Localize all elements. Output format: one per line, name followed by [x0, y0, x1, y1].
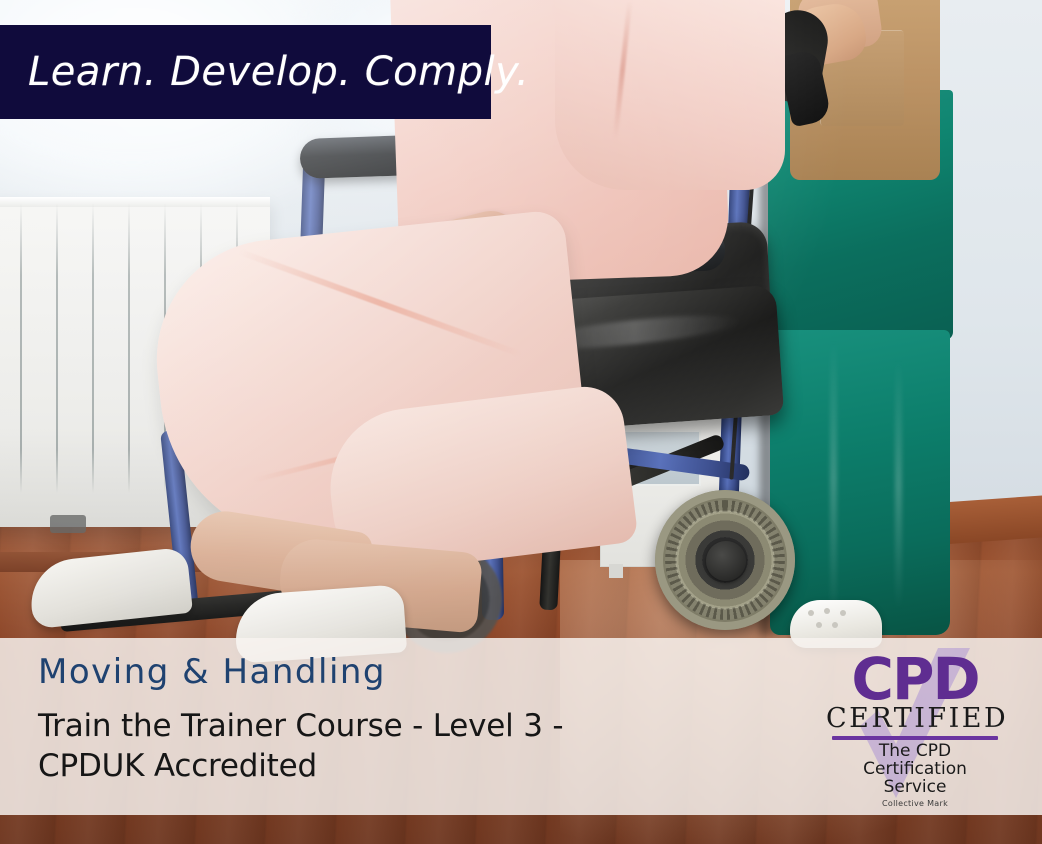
course-banner-canvas: Learn. Develop. Comply. Moving & Handlin… — [0, 0, 1042, 844]
patient-robe-upper — [555, 0, 785, 190]
cpd-acronym: CPD — [826, 652, 1004, 707]
cpd-service-line-2: Service — [826, 779, 1004, 797]
cpd-service-name: The CPD Certification Service — [826, 743, 1004, 797]
cpd-divider-rule — [832, 736, 998, 740]
course-category: Moving & Handling — [38, 654, 678, 691]
course-title-line-2: CPDUK Accredited — [38, 747, 678, 787]
cpd-collective-mark: Collective Mark — [826, 799, 1004, 808]
cpd-certified-text: CERTIFIED — [826, 705, 1004, 732]
cpd-certified-logo: CPD CERTIFIED The CPD Certification Serv… — [826, 652, 1004, 804]
course-info-panel: Moving & Handling Train the Trainer Cour… — [0, 638, 1042, 815]
course-text-block: Moving & Handling Train the Trainer Cour… — [38, 654, 678, 787]
tagline-text: Learn. Develop. Comply. — [28, 49, 529, 95]
cpd-service-line-1: The CPD Certification — [826, 743, 1004, 779]
wheel-hub — [706, 541, 746, 581]
course-title: Train the Trainer Course - Level 3 - CPD… — [38, 707, 678, 786]
tagline-banner: Learn. Develop. Comply. — [0, 25, 491, 119]
course-title-line-1: Train the Trainer Course - Level 3 - — [38, 707, 678, 747]
